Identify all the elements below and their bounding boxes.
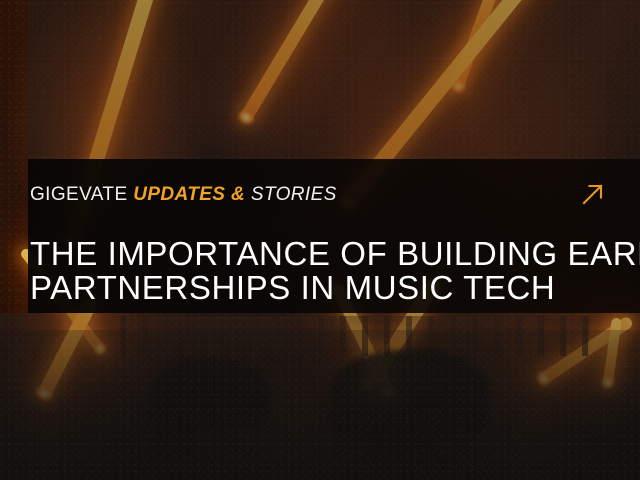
lower-scrim (0, 313, 640, 480)
eyebrow-kicker: GIGEVATE UPDATES & STORIES (30, 185, 337, 204)
hero-content: GIGEVATE UPDATES & STORIES THE IMPORTANC… (30, 159, 626, 313)
headline-line-2: PARTNERSHIPS IN MUSIC TECH (30, 271, 590, 305)
page-title: THE IMPORTANCE OF BUILDING EARLY PARTNER… (30, 237, 590, 305)
hero-banner: GIGEVATE UPDATES & STORIES THE IMPORTANC… (0, 0, 640, 480)
eyebrow-accent: UPDATES & (133, 184, 245, 205)
arrow-up-right-icon[interactable] (580, 181, 606, 207)
eyebrow-brand: GIGEVATE (30, 184, 133, 205)
eyebrow-tail: STORIES (245, 184, 337, 205)
headline-line-1: THE IMPORTANCE OF BUILDING EARLY (30, 237, 590, 271)
upper-scrim (28, 0, 640, 159)
